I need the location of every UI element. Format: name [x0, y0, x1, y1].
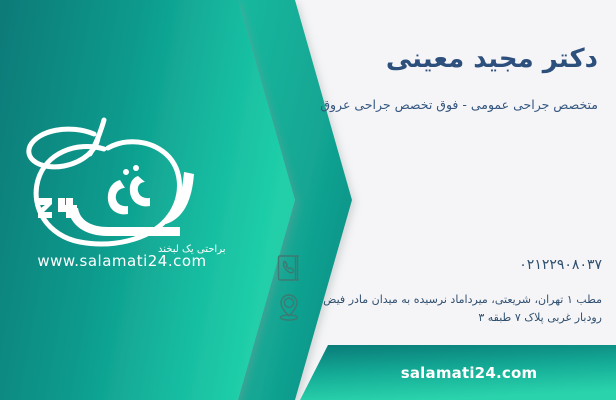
business-card: براحتی یک لبخند www.salamati24.com دکتر … [0, 0, 616, 400]
logo-svg: براحتی یک لبخند www.salamati24.com [8, 108, 238, 268]
contact-row-address[interactable]: مطب ۱ تهران، شریعتی، میرداماد نرسیده به … [272, 288, 602, 327]
salamati24-logo: براحتی یک لبخند www.salamati24.com [8, 108, 238, 268]
doctor-name: دکتر مجید معینی [238, 44, 598, 75]
contact-row-phone[interactable]: ۰۲۱۲۲۹۰۸۰۳۷ [272, 249, 602, 287]
logo-wordmark [38, 165, 194, 236]
phonebook-icon [272, 249, 306, 287]
logo-website: www.salamati24.com [37, 252, 206, 268]
clinic-address: مطب ۱ تهران، شریعتی، میرداماد نرسیده به … [306, 288, 602, 327]
phone-number: ۰۲۱۲۲۹۰۸۰۳۷ [306, 249, 602, 276]
doctor-specialty: متخصص جراحی عمومی - فوق تخصص جراحی عروق [178, 96, 598, 114]
website-banner[interactable]: salamati24.com [300, 345, 616, 400]
banner-website-label: salamati24.com [300, 345, 616, 400]
map-pin-icon [272, 288, 306, 326]
